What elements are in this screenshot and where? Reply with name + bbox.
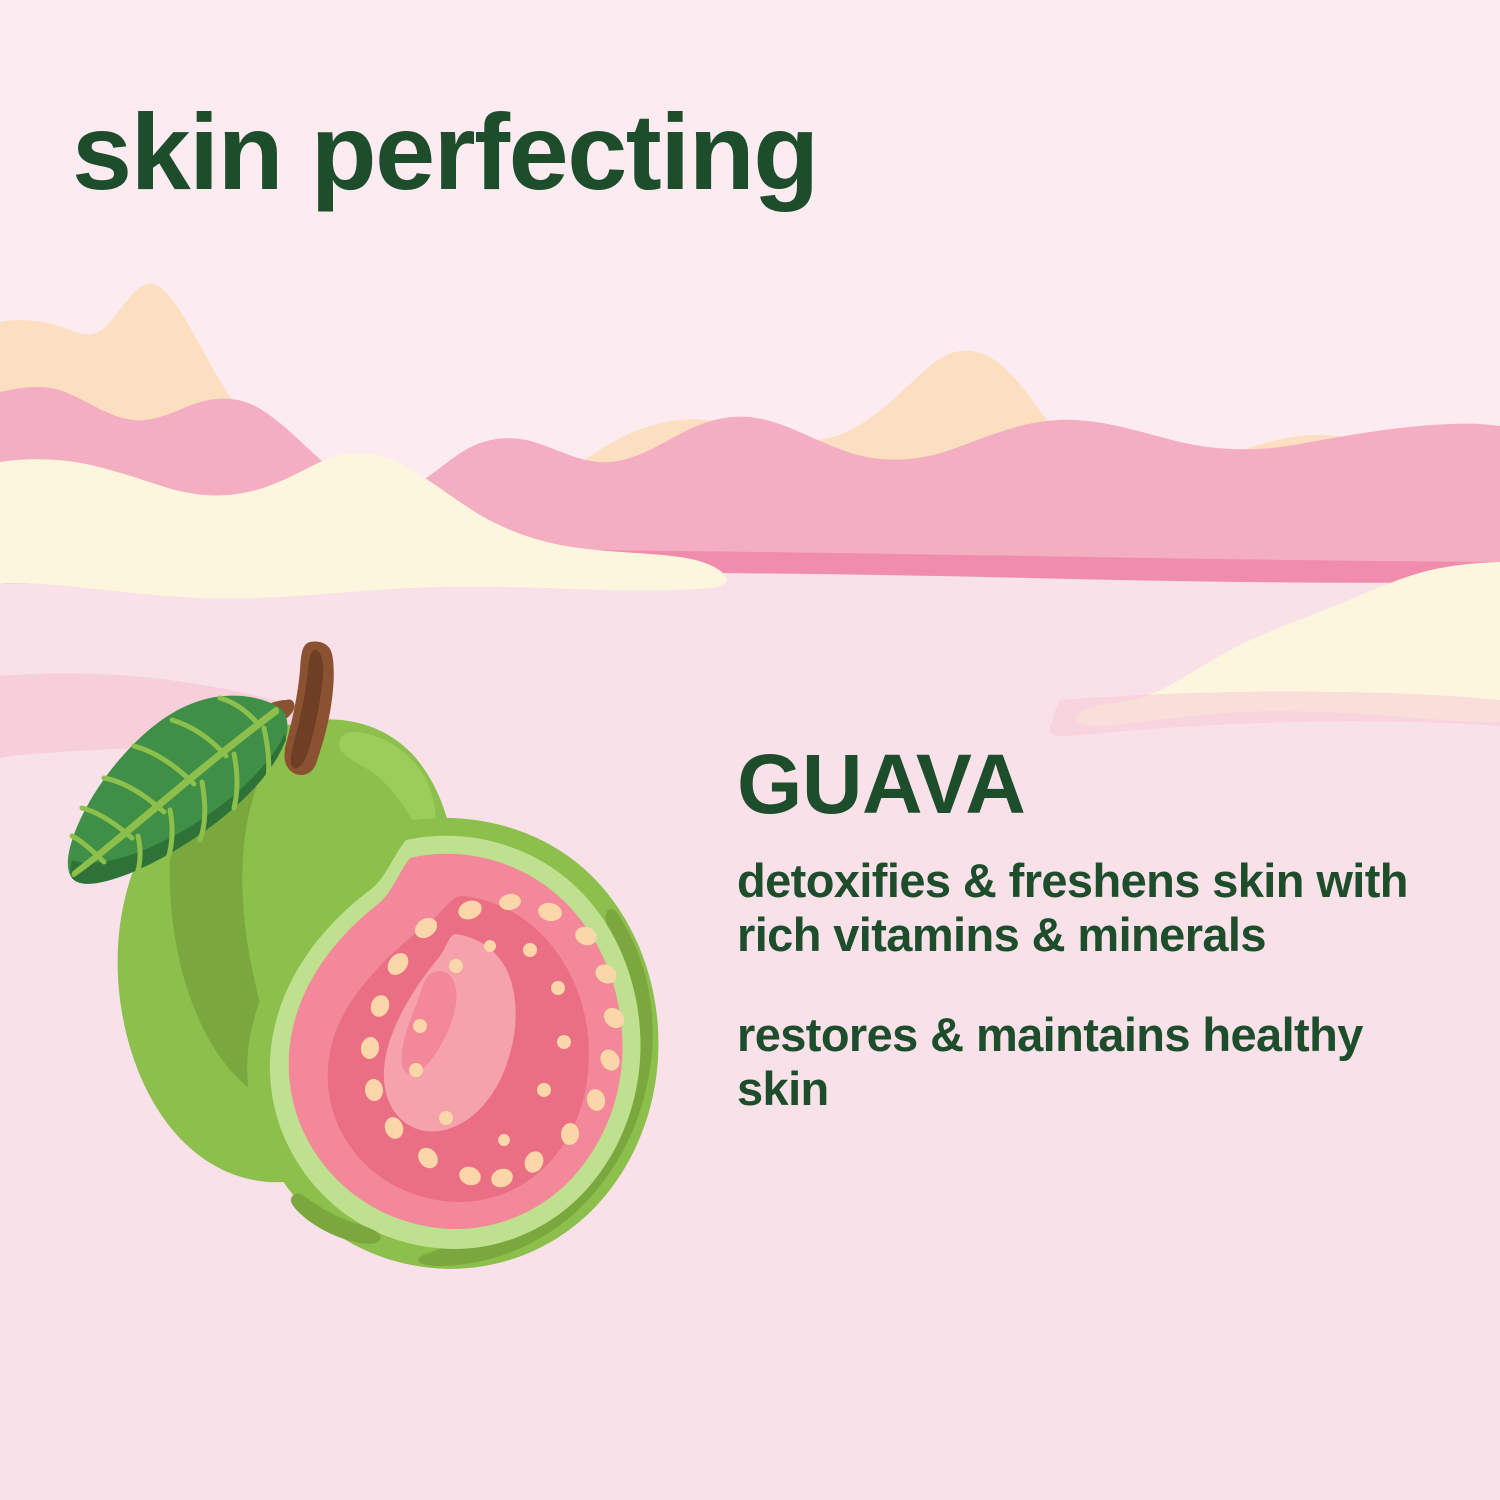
ingredient-benefit-2: restores & maintains healthy skin	[737, 1008, 1437, 1115]
guava-illustration	[58, 628, 708, 1278]
ingredient-benefit-1: detoxifies & freshens skin with rich vit…	[737, 854, 1437, 961]
ingredient-title: GUAVA	[737, 742, 1437, 826]
page-headline: skin perfecting	[72, 98, 818, 206]
ingredient-info-block: GUAVA detoxifies & freshens skin with ri…	[737, 742, 1437, 1115]
product-ingredient-graphic: skin perfecting	[0, 0, 1500, 1500]
